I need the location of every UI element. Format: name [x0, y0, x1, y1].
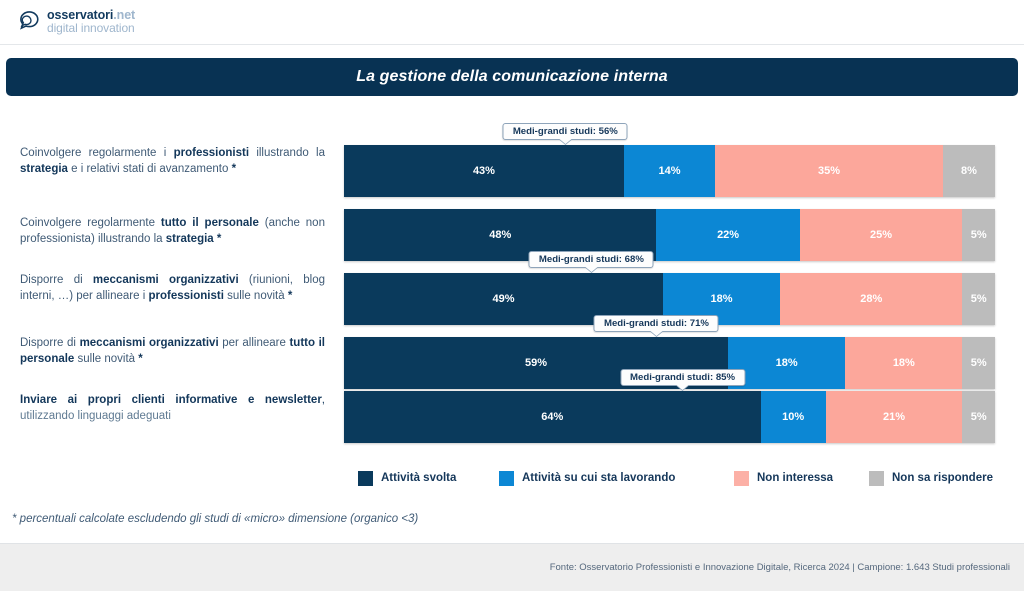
- bar-segment: 5%: [962, 391, 995, 443]
- bar-segment-value: 59%: [525, 357, 547, 369]
- slide-title-banner: La gestione della comunicazione interna: [6, 58, 1018, 96]
- callout-badge-label: Medi-grandi studi: 68%: [539, 254, 644, 265]
- legend-label: Attività su cui sta lavorando: [522, 472, 675, 484]
- bar-segment: 35%: [715, 145, 943, 197]
- callout-badge: Medi-grandi studi: 68%: [529, 251, 654, 268]
- bar-segment: 18%: [728, 337, 845, 389]
- bar-segment-value: 18%: [893, 357, 915, 369]
- source-text: Fonte: Osservatorio Professionisti e Inn…: [550, 562, 1010, 573]
- row-label: Disporre di meccanismi organizzativi (ri…: [20, 273, 325, 304]
- callout-badge: Medi-grandi studi: 71%: [594, 315, 719, 332]
- row-label: Coinvolgere regolarmente i professionist…: [20, 146, 325, 177]
- legend-swatch-icon: [734, 471, 749, 486]
- bar-segment-value: 5%: [971, 357, 987, 369]
- row-label: Coinvolgere regolarmente tutto il person…: [20, 216, 325, 247]
- chart-legend: Attività svoltaAttività su cui sta lavor…: [344, 466, 1004, 490]
- callout-badge: Medi-grandi studi: 85%: [620, 369, 745, 386]
- row-label: Disporre di meccanismi organizzativi per…: [20, 336, 325, 367]
- chart-row: Disporre di meccanismi organizzativi (ri…: [0, 273, 1024, 325]
- chart-row: Coinvolgere regolarmente i professionist…: [0, 145, 1024, 197]
- legend-item[interactable]: Non interessa: [734, 471, 833, 486]
- callout-badge: Medi-grandi studi: 56%: [503, 123, 628, 140]
- bar-segment: 10%: [761, 391, 826, 443]
- brand-tagline: digital innovation: [47, 21, 135, 35]
- bar-segment: 5%: [962, 273, 995, 325]
- bar-segment-value: 5%: [971, 411, 987, 423]
- slide-root: osservatori.net digital innovation La ge…: [0, 0, 1024, 591]
- footnote: * percentuali calcolate escludendo gli s…: [12, 513, 418, 525]
- bar-segment-value: 64%: [541, 411, 563, 423]
- bar-segment-value: 21%: [883, 411, 905, 423]
- legend-swatch-icon: [499, 471, 514, 486]
- legend-item[interactable]: Attività svolta: [358, 471, 456, 486]
- callout-badge-label: Medi-grandi studi: 71%: [604, 318, 709, 329]
- chart-row: Disporre di meccanismi organizzativi per…: [0, 337, 1024, 389]
- bar-segment-value: 5%: [971, 293, 987, 305]
- bar-segment: 18%: [845, 337, 962, 389]
- brand-header: osservatori.net digital innovation: [0, 0, 1024, 44]
- chart-row: Coinvolgere regolarmente tutto il person…: [0, 209, 1024, 261]
- bar-segment: 21%: [826, 391, 963, 443]
- magnifier-speech-bubble-icon: [14, 9, 40, 35]
- bar-segment: 43%: [344, 145, 624, 197]
- page-title: La gestione della comunicazione interna: [356, 68, 668, 86]
- legend-item[interactable]: Attività su cui sta lavorando: [499, 471, 675, 486]
- bar-segment-value: 14%: [658, 165, 680, 177]
- bar-segment: 64%: [344, 391, 761, 443]
- bar-segment-value: 35%: [818, 165, 840, 177]
- bar-segment-value: 48%: [489, 229, 511, 241]
- slide-footer: Fonte: Osservatorio Professionisti e Inn…: [0, 544, 1024, 591]
- bar-segment: 22%: [656, 209, 799, 261]
- callout-badge-label: Medi-grandi studi: 56%: [513, 126, 618, 137]
- bar-segment-value: 43%: [473, 165, 495, 177]
- bar-segment-value: 18%: [776, 357, 798, 369]
- bar-segment-value: 22%: [717, 229, 739, 241]
- header-divider: [0, 44, 1024, 45]
- stacked-bar: 64%10%21%5%: [344, 391, 995, 443]
- bar-segment-value: 25%: [870, 229, 892, 241]
- bar-segment: 8%: [943, 145, 995, 197]
- legend-label: Non interessa: [757, 472, 833, 484]
- brand-tld: .net: [113, 8, 135, 22]
- legend-swatch-icon: [358, 471, 373, 486]
- bar-segment-value: 8%: [961, 165, 977, 177]
- bar-segment-value: 18%: [711, 293, 733, 305]
- bar-segment: 14%: [624, 145, 715, 197]
- brand-wordmark: osservatori.net digital innovation: [47, 9, 135, 35]
- callout-badge-label: Medi-grandi studi: 85%: [630, 372, 735, 383]
- stacked-bar: 43%14%35%8%: [344, 145, 995, 197]
- brand-name: osservatori: [47, 8, 113, 22]
- bar-segment: 25%: [800, 209, 963, 261]
- bar-segment-value: 10%: [782, 411, 804, 423]
- stacked-bar-chart: Coinvolgere regolarmente i professionist…: [0, 108, 1024, 468]
- bar-segment: 5%: [962, 209, 995, 261]
- legend-item[interactable]: Non sa rispondere: [869, 471, 993, 486]
- bar-segment: 5%: [962, 337, 995, 389]
- row-label: Inviare ai propri clienti informative e …: [20, 393, 325, 424]
- stacked-bar: 48%22%25%5%: [344, 209, 995, 261]
- bar-segment: 28%: [780, 273, 962, 325]
- legend-label: Non sa rispondere: [892, 472, 993, 484]
- chart-row: Inviare ai propri clienti informative e …: [0, 391, 1024, 443]
- bar-segment-value: 49%: [492, 293, 514, 305]
- bar-segment-value: 5%: [971, 229, 987, 241]
- legend-swatch-icon: [869, 471, 884, 486]
- legend-label: Attività svolta: [381, 472, 456, 484]
- bar-segment-value: 28%: [860, 293, 882, 305]
